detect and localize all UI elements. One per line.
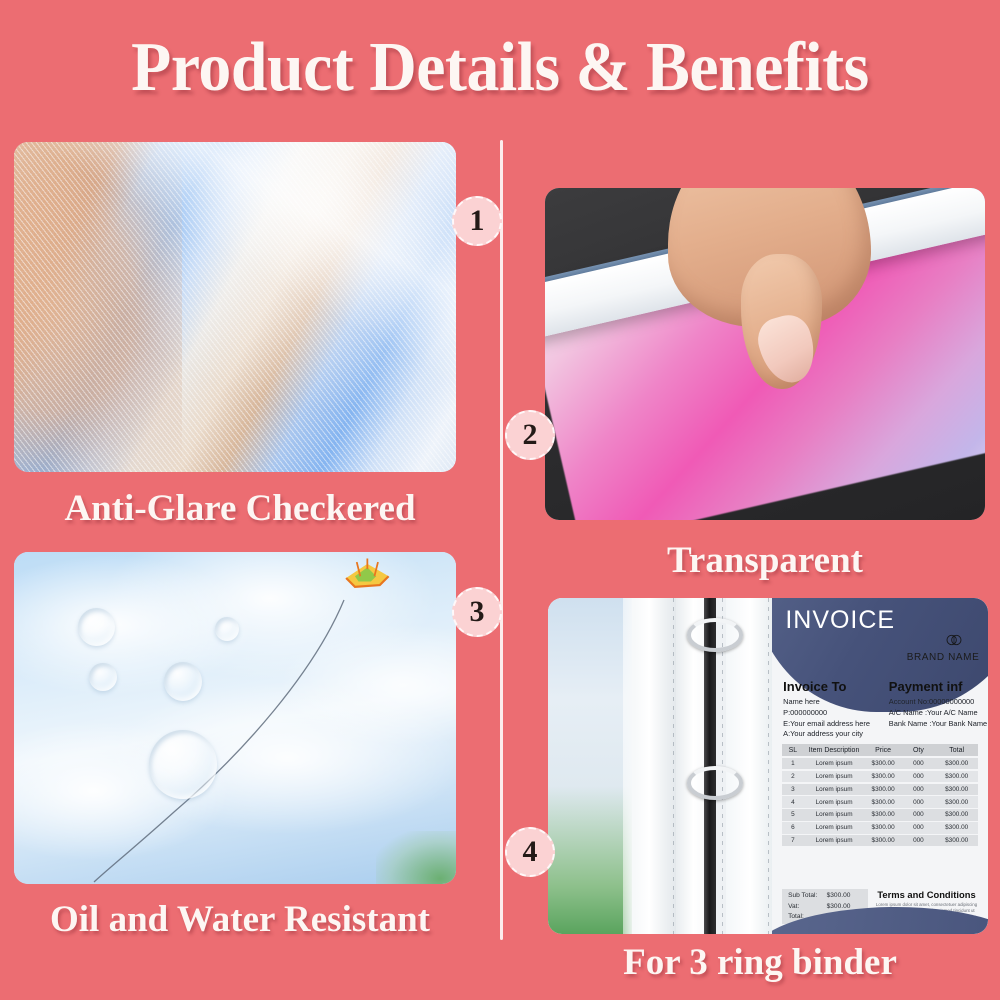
water-droplet (149, 730, 218, 799)
cell-sl: 6 (782, 824, 804, 831)
summary-value: $300.00 (827, 892, 869, 899)
cell-price: $300.00 (864, 786, 901, 793)
cell-qty: 000 (902, 824, 935, 831)
cell-total: $300.00 (935, 799, 978, 806)
caption-oil-water-resistant: Oil and Water Resistant (0, 898, 480, 941)
cell-price: $300.00 (864, 824, 901, 831)
cell-total: $300.00 (935, 773, 978, 780)
table-row: 4 Lorem ipsum $300.00 000 $300.00 (782, 796, 978, 807)
cell-desc: Lorem ipsum (804, 799, 865, 806)
cell-qty: 000 (902, 799, 935, 806)
sleeve-perforation (673, 598, 674, 934)
vertical-divider (500, 140, 503, 940)
hand-peeling (668, 188, 870, 394)
cell-total: $300.00 (935, 824, 978, 831)
cell-qty: 000 (902, 786, 935, 793)
sheet-protector (623, 598, 676, 934)
cell-total: $300.00 (935, 760, 978, 767)
payment-line: Bank Name :Your Bank Name (889, 719, 987, 730)
sleeve-perforation (768, 598, 769, 934)
step-badge-4: 4 (505, 827, 555, 877)
panel-transparent-image (545, 188, 985, 520)
cell-sl: 5 (782, 811, 804, 818)
column-header-price: Price (864, 747, 901, 754)
film-sheen (14, 142, 456, 472)
bill-to-heading: Invoice To (783, 679, 870, 694)
binder-ring (687, 618, 743, 652)
cell-total: $300.00 (935, 786, 978, 793)
column-header-qty: Oty (902, 747, 935, 754)
cell-desc: Lorem ipsum (804, 837, 865, 844)
cell-qty: 000 (902, 773, 935, 780)
bill-to-line: E:Your email address here (783, 719, 870, 730)
caption-ring-binder: For 3 ring binder (520, 941, 1000, 984)
cell-price: $300.00 (864, 811, 901, 818)
summary-row: Sub Total: $300.00 (782, 891, 868, 902)
cell-total: $300.00 (935, 837, 978, 844)
cell-desc: Lorem ipsum (804, 760, 865, 767)
bill-to-line: Name here (783, 697, 870, 708)
table-header-row: SL Item Description Price Oty Total (782, 744, 978, 756)
panel-ring-binder-image: INVOICE BRAND NAME Invoice To Name here … (548, 598, 988, 934)
binder-ring (687, 766, 743, 800)
cell-qty: 000 (902, 837, 935, 844)
summary-label: Sub Total: (782, 892, 827, 899)
brand-logo-icon (944, 633, 964, 647)
caption-transparent: Transparent (530, 539, 1000, 582)
cell-sl: 2 (782, 773, 804, 780)
cell-price: $300.00 (864, 760, 901, 767)
step-badge-2: 2 (505, 410, 555, 460)
column-header-total: Total (935, 747, 978, 754)
cell-desc: Lorem ipsum (804, 824, 865, 831)
table-row: 7 Lorem ipsum $300.00 000 $300.00 (782, 835, 978, 846)
payment-heading: Payment inf (889, 679, 987, 694)
table-row: 6 Lorem ipsum $300.00 000 $300.00 (782, 822, 978, 833)
step-badge-3: 3 (452, 587, 502, 637)
page-title: Product Details & Benefits (30, 28, 970, 108)
panel-water-resistant-image (14, 552, 456, 884)
background-print-edge (548, 598, 632, 934)
payment-line: A/C Name :Your A/C Name (889, 708, 987, 719)
payment-line: Account No:00000000000 (889, 697, 987, 708)
summary-label: Vat: (782, 903, 827, 910)
invoice-title: INVOICE (785, 606, 895, 635)
terms-heading: Terms and Conditions (874, 889, 980, 900)
table-row: 2 Lorem ipsum $300.00 000 $300.00 (782, 771, 978, 782)
cell-desc: Lorem ipsum (804, 773, 865, 780)
cell-price: $300.00 (864, 773, 901, 780)
bill-to-line: A:Your address your city (783, 729, 870, 740)
cell-sl: 4 (782, 799, 804, 806)
cell-sl: 3 (782, 786, 804, 793)
cell-price: $300.00 (864, 837, 901, 844)
cell-sl: 1 (782, 760, 804, 767)
cell-desc: Lorem ipsum (804, 811, 865, 818)
kite-icon (332, 555, 403, 608)
column-header-sl: SL (782, 747, 804, 754)
panel-anti-glare-image (14, 142, 456, 472)
table-row: 5 Lorem ipsum $300.00 000 $300.00 (782, 809, 978, 820)
cell-sl: 7 (782, 837, 804, 844)
table-row: 3 Lorem ipsum $300.00 000 $300.00 (782, 784, 978, 795)
column-header-desc: Item Description (804, 747, 865, 754)
invoice-document: INVOICE BRAND NAME Invoice To Name here … (772, 598, 988, 934)
cell-desc: Lorem ipsum (804, 786, 865, 793)
invoice-payment-block: Payment inf Account No:00000000000 A/C N… (889, 679, 987, 730)
cell-qty: 000 (902, 760, 935, 767)
water-droplet (164, 662, 202, 701)
cell-price: $300.00 (864, 799, 901, 806)
water-droplet (215, 617, 239, 641)
invoice-line-items-table: SL Item Description Price Oty Total 1 Lo… (782, 744, 978, 848)
invoice-bill-to-block: Invoice To Name here P:000000000 E:Your … (783, 679, 870, 741)
step-badge-1: 1 (452, 196, 502, 246)
water-droplet (89, 663, 116, 691)
cell-total: $300.00 (935, 811, 978, 818)
bill-to-line: P:000000000 (783, 708, 870, 719)
cell-qty: 000 (902, 811, 935, 818)
caption-anti-glare: Anti-Glare Checkered (0, 487, 480, 530)
table-row: 1 Lorem ipsum $300.00 000 $300.00 (782, 758, 978, 769)
invoice-brand-name: BRAND NAME (907, 652, 980, 663)
